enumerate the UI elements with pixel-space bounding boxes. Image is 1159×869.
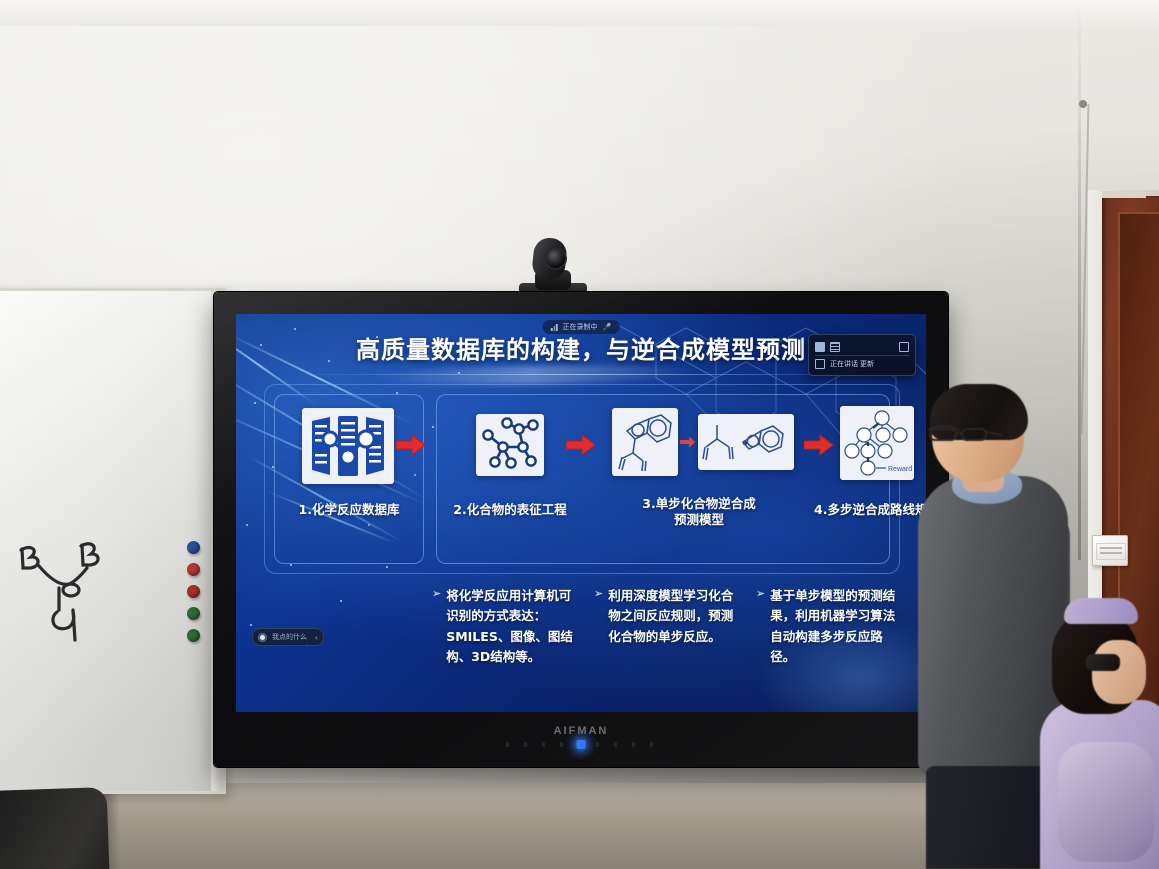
magnet — [187, 585, 200, 598]
step3-reactant-card — [612, 408, 678, 476]
bullet-text: 将化学反应用计算机可识别的方式表达：SMILES、图像、图结构、3D结构等。 — [446, 586, 580, 667]
widget-status-text: 正在讲话 更新 — [830, 359, 874, 369]
step1-icon-card — [302, 408, 394, 484]
door-top-trim — [1102, 191, 1146, 198]
widget-top-row — [815, 342, 909, 352]
magnet — [187, 563, 200, 576]
database-molecule-icon — [306, 413, 390, 479]
magnet-strip — [187, 541, 205, 651]
bullet-column-1: ➢ 将化学反应用计算机可识别的方式表达：SMILES、图像、图结构、3D结构等。 — [432, 586, 580, 667]
expand-icon[interactable] — [899, 342, 909, 352]
magnet — [187, 629, 200, 642]
attendee-headband — [1064, 598, 1138, 624]
annotation-toolbar-pill[interactable]: 我点的什么 ‹ — [252, 628, 324, 646]
widget-divider — [815, 355, 909, 356]
chemical-products-icon — [701, 417, 791, 467]
foreground-dark-object — [0, 787, 109, 869]
attendee-jacket-fold — [1058, 742, 1154, 862]
ceiling-edge — [0, 0, 1159, 26]
bullet-text: 利用深度模型学习化合物之间反应规则，预测化合物的单步反应。 — [608, 586, 742, 667]
attendee — [1044, 592, 1159, 869]
bullet-column-3: ➢ 基于单步模型的预测结果，利用机器学习算法自动构建多步反应路径。 — [756, 586, 904, 667]
record-dot-icon[interactable] — [258, 633, 267, 642]
light-switch-plate[interactable] — [1092, 535, 1128, 566]
bullet-row: ➢ 将化学反应用计算机可识别的方式表达：SMILES、图像、图结构、3D结构等。… — [432, 586, 904, 667]
red-arrow-icon — [566, 434, 596, 456]
power-led-indicator — [577, 740, 586, 749]
bullet-text: 基于单步模型的预测结果，利用机器学习算法自动构建多步反应路径。 — [770, 586, 904, 667]
title-underline — [288, 374, 874, 375]
magnet — [187, 607, 200, 620]
whiteboard — [0, 288, 226, 794]
arrow-step3-to-step4 — [804, 434, 834, 456]
glasses-icon — [926, 422, 1006, 442]
cable-clip — [1079, 100, 1087, 108]
interactive-display[interactable]: 正在录制中 🎤 高质量数据库的构建，与逆合成模型预测 — [214, 292, 948, 767]
collapse-arrow-icon[interactable]: ‹ — [315, 633, 318, 642]
arrow-step1-to-step2 — [396, 434, 426, 456]
red-arrow-icon — [804, 434, 834, 456]
whiteboard-handwriting — [9, 536, 129, 654]
step3-label: 3.单步化合物逆合成 预测模型 — [606, 496, 792, 527]
presenter-trousers — [926, 766, 1058, 869]
slide: 正在录制中 🎤 高质量数据库的构建，与逆合成模型预测 — [236, 314, 926, 712]
layout-icon[interactable] — [830, 342, 840, 352]
attendee-face — [1092, 640, 1146, 704]
step2-icon-card — [476, 414, 544, 476]
step3-products-card — [698, 414, 794, 470]
bullet-marker: ➢ — [756, 586, 765, 667]
meeting-widget[interactable]: 正在讲话 更新 — [808, 334, 916, 376]
arrow-step2-to-step3 — [566, 434, 596, 456]
bullet-column-2: ➢ 利用深度模型学习化合物之间反应规则，预测化合物的单步反应。 — [594, 586, 742, 667]
step1-label: 1.化学反应数据库 — [276, 502, 422, 518]
step2-label: 2.化合物的表征工程 — [441, 502, 579, 518]
display-brand-logo: AIFMAN — [214, 725, 948, 737]
bullet-marker: ➢ — [594, 586, 603, 667]
camera-toggle-icon[interactable] — [815, 342, 825, 352]
magnet — [187, 541, 200, 554]
molecular-graph-icon — [479, 417, 541, 473]
arrow-reaction-small — [680, 436, 696, 448]
mini-pill-label: 我点的什么 — [272, 632, 307, 642]
switch-label — [1096, 543, 1126, 560]
sunglasses-icon — [1086, 654, 1120, 671]
red-arrow-icon — [396, 434, 426, 456]
display-screen[interactable]: 正在录制中 🎤 高质量数据库的构建，与逆合成模型预测 — [236, 314, 926, 712]
photo-scene: 正在录制中 🎤 高质量数据库的构建，与逆合成模型预测 — [0, 0, 1159, 869]
red-arrow-icon — [680, 436, 696, 448]
bullet-marker: ➢ — [432, 586, 441, 667]
mic-small-icon[interactable] — [815, 359, 825, 369]
chemical-structure-icon — [615, 411, 675, 473]
widget-bottom-row: 正在讲话 更新 — [815, 359, 909, 369]
